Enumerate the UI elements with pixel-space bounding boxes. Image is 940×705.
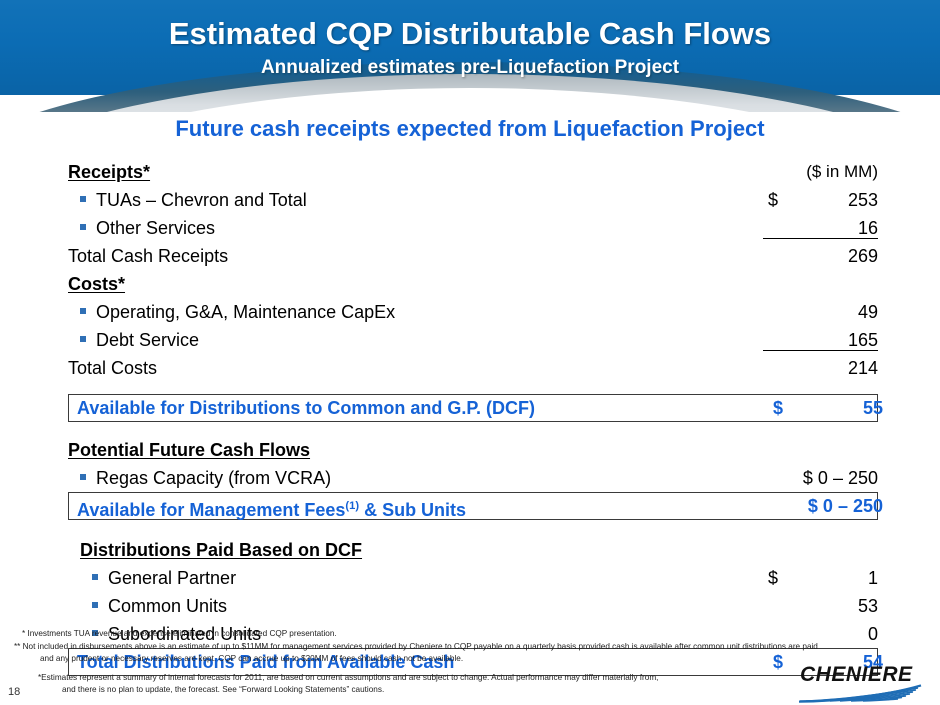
row-label-text: Common Units — [108, 596, 227, 616]
box-label-suffix: & Sub Units — [359, 500, 466, 520]
footnote-3b: and there is no plan to update, the fore… — [62, 684, 384, 696]
bullet-square-icon — [92, 602, 98, 608]
row-common-units: Common Units 53 — [0, 592, 940, 620]
row-value: 269 — [808, 242, 878, 270]
row-value: 214 — [808, 354, 878, 382]
row-label-text: TUAs – Chevron and Total — [96, 190, 307, 210]
distributions-header-label: Distributions Paid Based on DCF — [80, 536, 362, 564]
bullet-square-icon — [80, 224, 86, 230]
logo-swoosh-icon — [794, 684, 926, 704]
box-label: Available for Distributions to Common an… — [77, 395, 535, 421]
row-regas-capacity: Regas Capacity (from VCRA) $ 0 – 250 — [0, 464, 940, 492]
row-label-text: General Partner — [108, 568, 236, 588]
box-available-for-management-fees: Available for Management Fees(1) & Sub U… — [68, 492, 878, 520]
row-label: Regas Capacity (from VCRA) — [80, 464, 331, 492]
row-label-text: Regas Capacity (from VCRA) — [96, 468, 331, 488]
footnote-1: * Investments TUA revenue and expense el… — [22, 628, 337, 640]
row-value: 0 — [808, 620, 878, 648]
row-currency: $ — [768, 564, 788, 592]
row-label-text: Other Services — [96, 218, 215, 238]
costs-header-label: Costs* — [68, 270, 125, 298]
bullet-square-icon — [80, 474, 86, 480]
row-value: $ 0 – 250 — [698, 464, 878, 492]
row-total-cash-receipts: Total Cash Receipts 269 — [0, 242, 940, 270]
row-potential-future-cash-flows-header: Potential Future Cash Flows — [0, 436, 940, 464]
cash-flow-statement: Receipts* ($ in MM) TUAs – Chevron and T… — [0, 158, 940, 682]
row-label: General Partner — [92, 564, 236, 592]
row-value: 53 — [808, 592, 878, 620]
row-label: Debt Service — [80, 326, 199, 354]
row-total-costs: Total Costs 214 — [0, 354, 940, 382]
subtotal-rule — [763, 238, 878, 239]
section-heading: Future cash receipts expected from Lique… — [0, 116, 940, 142]
footnote-marker: (1) — [345, 500, 359, 512]
footnote-2b: and any prudent or necessary reserves ar… — [40, 653, 463, 665]
cheniere-logo: CHENIERE — [794, 663, 926, 701]
footnote-3a: *Estimates represent a summary of intern… — [38, 672, 658, 684]
spacer — [0, 428, 940, 436]
row-tuas: TUAs – Chevron and Total $ 253 — [0, 186, 940, 214]
box-available-for-distributions-dcf: Available for Distributions to Common an… — [68, 394, 878, 422]
row-receipts-header: Receipts* ($ in MM) — [0, 158, 940, 186]
row-label-text: Total Costs — [68, 354, 157, 382]
row-label-text: Debt Service — [96, 330, 199, 350]
page-subtitle: Annualized estimates pre-Liquefaction Pr… — [0, 57, 940, 79]
row-currency: $ — [768, 186, 788, 214]
bullet-square-icon — [80, 196, 86, 202]
box-value: 55 — [813, 395, 883, 421]
bullet-square-icon — [92, 574, 98, 580]
header-banner: Estimated CQP Distributable Cash Flows A… — [0, 0, 940, 112]
page-number: 18 — [8, 686, 20, 698]
potential-header-label: Potential Future Cash Flows — [68, 436, 310, 464]
row-label-text: Operating, G&A, Maintenance CapEx — [96, 302, 395, 322]
box-value: $ 0 – 250 — [703, 493, 883, 519]
row-value: 1 — [808, 564, 878, 592]
row-value: 49 — [808, 298, 878, 326]
row-operating-ga-maintenance: Operating, G&A, Maintenance CapEx 49 — [0, 298, 940, 326]
row-label: TUAs – Chevron and Total — [80, 186, 307, 214]
bullet-square-icon — [80, 336, 86, 342]
spacer — [0, 526, 940, 536]
page-title: Estimated CQP Distributable Cash Flows — [0, 16, 940, 52]
row-value: 253 — [808, 186, 878, 214]
receipts-header-label: Receipts* — [68, 158, 150, 186]
row-debt-service: Debt Service 165 — [0, 326, 940, 354]
units-note: ($ in MM) — [758, 158, 878, 186]
box-label-text: Available for Management Fees — [77, 500, 345, 520]
row-label: Common Units — [92, 592, 227, 620]
footnote-2a: ** Not included in disbursements above i… — [14, 641, 818, 653]
row-general-partner: General Partner $ 1 — [0, 564, 940, 592]
row-label: Operating, G&A, Maintenance CapEx — [80, 298, 395, 326]
box-label: Available for Management Fees(1) & Sub U… — [77, 493, 466, 523]
row-label-text: Total Cash Receipts — [68, 242, 228, 270]
row-other-services: Other Services 16 — [0, 214, 940, 242]
spacer — [0, 382, 940, 394]
row-distributions-paid-header: Distributions Paid Based on DCF — [0, 536, 940, 564]
subtotal-rule — [763, 350, 878, 351]
box-currency: $ — [773, 395, 793, 421]
row-label: Other Services — [80, 214, 215, 242]
row-costs-header: Costs* — [0, 270, 940, 298]
bullet-square-icon — [80, 308, 86, 314]
